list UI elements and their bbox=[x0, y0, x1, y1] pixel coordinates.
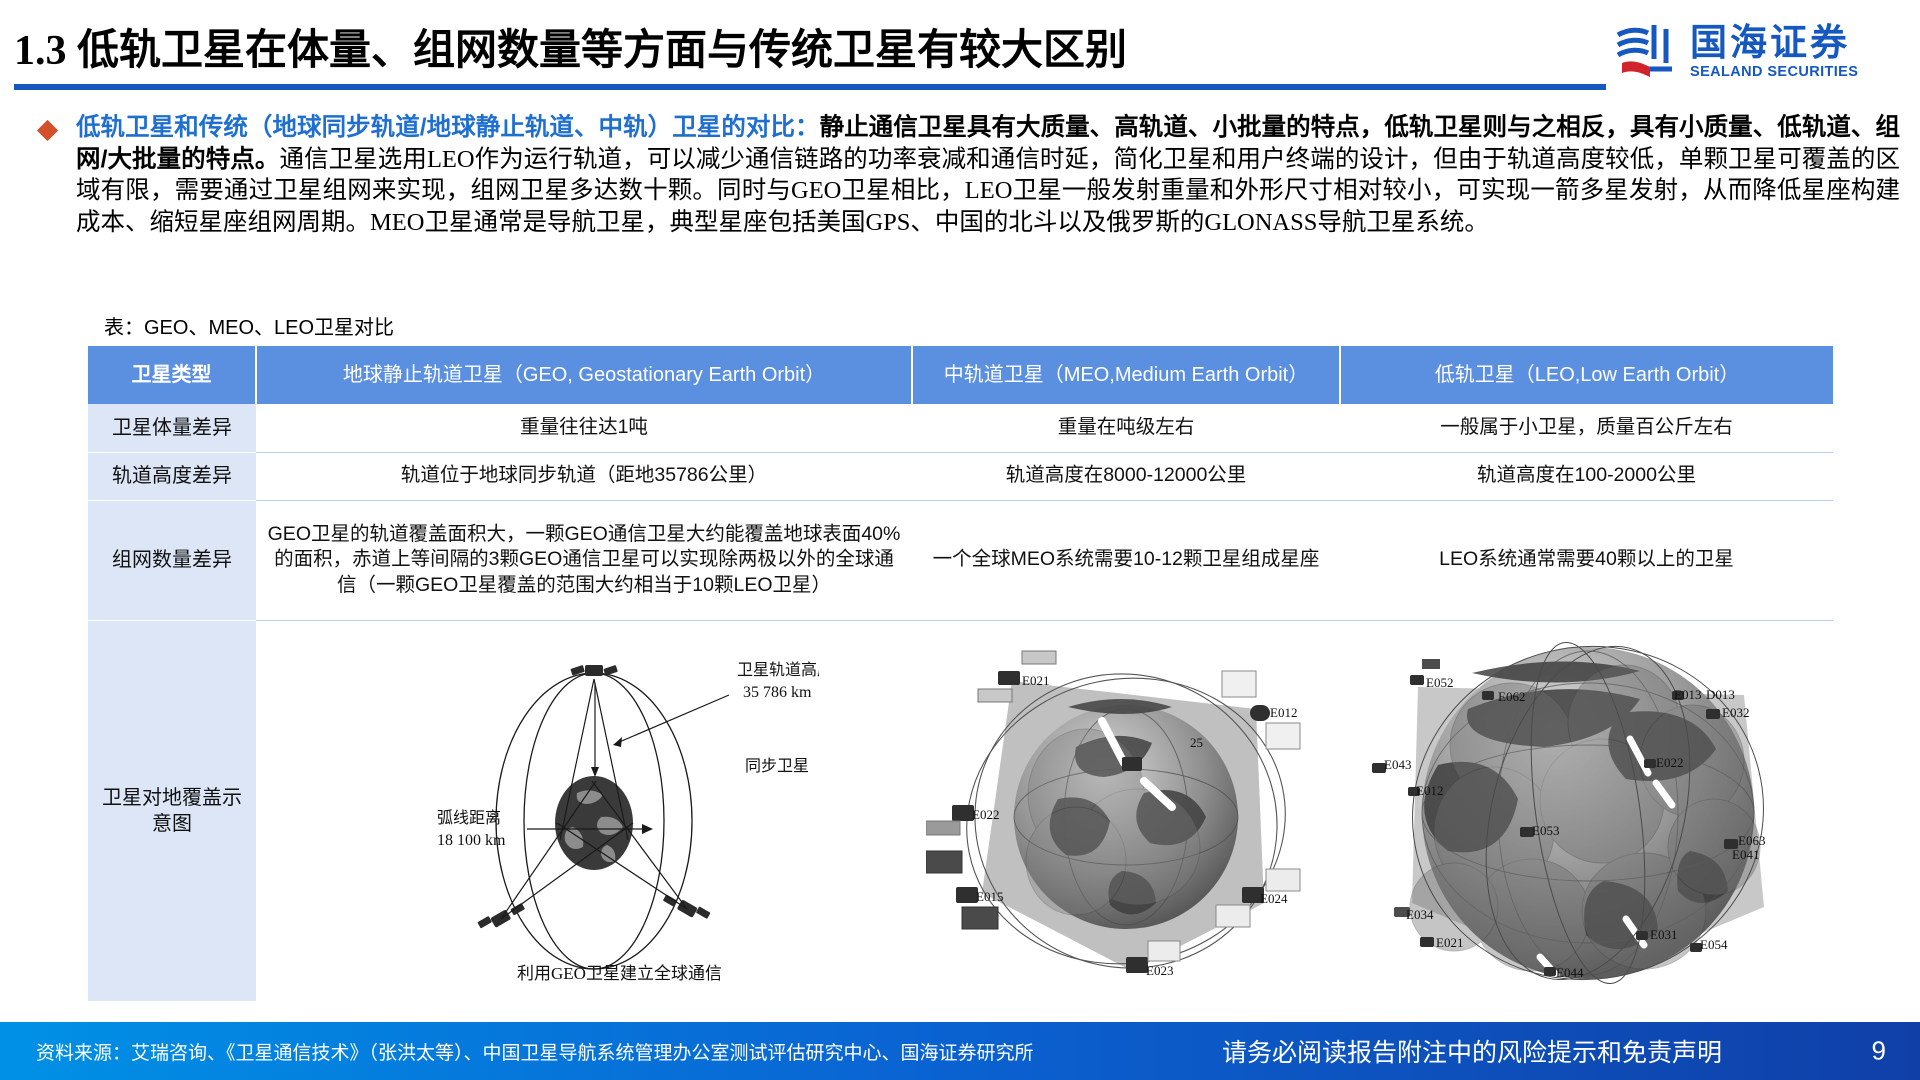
cell-leo-altitude: 轨道高度在100-2000公里 bbox=[1340, 452, 1833, 500]
satellite-marker: E043 bbox=[1372, 757, 1411, 773]
satellite-marker: E012 bbox=[1408, 783, 1443, 798]
svg-text:18 100 km: 18 100 km bbox=[437, 832, 506, 849]
cell-meo-constellation: 一个全球MEO系统需要10-12颗卫星组成星座 bbox=[912, 500, 1340, 620]
bullet-diamond-icon bbox=[37, 120, 58, 141]
svg-text:E053: E053 bbox=[1532, 823, 1559, 838]
svg-text:25: 25 bbox=[1190, 735, 1203, 750]
svg-text:卫星轨道高度: 卫星轨道高度 bbox=[737, 661, 819, 679]
cell-geo-figure: 卫星轨道高度 35 786 km 同步卫星 弧线距离 18 100 km 利用G… bbox=[256, 620, 912, 1001]
footer-source-text: 资料来源：艾瑞咨询、《卫星通信技术》（张洪太等）、中国卫星导航系统管理办公室测试… bbox=[0, 1038, 1034, 1065]
cell-meo-figure: E021 E012 E022 bbox=[912, 620, 1340, 1001]
svg-text:E013: E013 bbox=[1674, 687, 1701, 702]
svg-text:E044: E044 bbox=[1556, 965, 1584, 980]
paragraph-lead: 低轨卫星和传统（地球同步轨道/地球静止轨道、中轨）卫星的对比： bbox=[76, 114, 820, 141]
row-label-mass: 卫星体量差异 bbox=[88, 404, 256, 452]
satellite-marker: E041 bbox=[1732, 847, 1759, 862]
cell-meo-altitude: 轨道高度在8000-12000公里 bbox=[912, 452, 1340, 500]
cell-geo-mass: 重量往往达1吨 bbox=[256, 404, 912, 452]
leo-constellation-diagram: E052 E062 E013 D013 E032 E043 E012 E022 … bbox=[1372, 635, 1802, 987]
svg-text:E054: E054 bbox=[1700, 937, 1728, 952]
satellite-comparison-table: 卫星类型 地球静止轨道卫星（GEO, Geostationary Earth O… bbox=[88, 346, 1833, 1001]
table-header-row: 卫星类型 地球静止轨道卫星（GEO, Geostationary Earth O… bbox=[88, 346, 1833, 404]
table-header-type: 卫星类型 bbox=[88, 346, 256, 404]
table-header-geo: 地球静止轨道卫星（GEO, Geostationary Earth Orbit） bbox=[256, 346, 912, 404]
meo-constellation-diagram: E021 E012 E022 bbox=[926, 635, 1326, 987]
cell-meo-mass: 重量在吨级左右 bbox=[912, 404, 1340, 452]
svg-text:E012: E012 bbox=[1416, 783, 1443, 798]
satellite-marker: E013 bbox=[1672, 687, 1701, 702]
cell-leo-constellation: LEO系统通常需要40颗以上的卫星 bbox=[1340, 500, 1833, 620]
cell-geo-constellation: GEO卫星的轨道覆盖面积大，一颗GEO通信卫星大约能覆盖地球表面40%的面积，赤… bbox=[256, 500, 912, 620]
table-row: 卫星对地覆盖示意图 bbox=[88, 620, 1833, 1001]
svg-text:弧线距离: 弧线距离 bbox=[437, 809, 501, 827]
svg-text:E015: E015 bbox=[976, 889, 1003, 904]
svg-text:同步卫星: 同步卫星 bbox=[745, 757, 809, 775]
svg-text:E021: E021 bbox=[1022, 673, 1049, 688]
cell-leo-mass: 一般属于小卫星，质量百公斤左右 bbox=[1340, 404, 1833, 452]
svg-text:E062: E062 bbox=[1498, 689, 1525, 704]
sealand-logo-icon bbox=[1614, 19, 1680, 85]
svg-text:E021: E021 bbox=[1436, 935, 1463, 950]
row-label-coverage-figure: 卫星对地覆盖示意图 bbox=[88, 620, 256, 1001]
satellite-marker bbox=[1122, 757, 1142, 771]
slide-header: 1.3 低轨卫星在体量、组网数量等方面与传统卫星有较大区别 bbox=[0, 0, 1920, 98]
svg-text:E034: E034 bbox=[1406, 907, 1434, 922]
svg-text:E031: E031 bbox=[1650, 927, 1677, 942]
slide-footer: 资料来源：艾瑞咨询、《卫星通信技术》（张洪太等）、中国卫星导航系统管理办公室测试… bbox=[0, 1022, 1920, 1080]
footer-disclaimer-text: 请务必阅读报告附注中的风险提示和免责声明 bbox=[1222, 1033, 1722, 1069]
satellite-marker: E034 bbox=[1394, 907, 1434, 922]
slide-root: 1.3 低轨卫星在体量、组网数量等方面与传统卫星有较大区别 bbox=[0, 0, 1920, 1080]
body-paragraph: 低轨卫星和传统（地球同步轨道/地球静止轨道、中轨）卫星的对比：静止通信卫星具有大… bbox=[76, 112, 1900, 238]
logo-chinese-name: 国海证券 bbox=[1690, 24, 1858, 62]
svg-text:E063: E063 bbox=[1738, 833, 1765, 848]
table-row: 轨道高度差异 轨道位于地球同步轨道（距地35786公里） 轨道高度在8000-1… bbox=[88, 452, 1833, 500]
svg-text:E043: E043 bbox=[1384, 757, 1411, 772]
svg-text:E024: E024 bbox=[1260, 891, 1288, 906]
page-title: 1.3 低轨卫星在体量、组网数量等方面与传统卫星有较大区别 bbox=[14, 16, 1127, 77]
satellite-marker: E021 bbox=[1420, 935, 1463, 950]
page-number: 9 bbox=[1872, 1036, 1886, 1067]
svg-text:E032: E032 bbox=[1722, 705, 1749, 720]
svg-text:35 786 km: 35 786 km bbox=[743, 684, 812, 701]
row-label-constellation: 组网数量差异 bbox=[88, 500, 256, 620]
logo-english-name: SEALAND SECURITIES bbox=[1690, 64, 1858, 80]
satellite-marker: D013 bbox=[1706, 687, 1735, 702]
title-underline-rule bbox=[14, 84, 1606, 90]
svg-text:D013: D013 bbox=[1706, 687, 1735, 702]
satellite-marker: E044 bbox=[1544, 965, 1584, 980]
table-row: 组网数量差异 GEO卫星的轨道覆盖面积大，一颗GEO通信卫星大约能覆盖地球表面4… bbox=[88, 500, 1833, 620]
svg-text:利用GEO卫星建立全球通信: 利用GEO卫星建立全球通信 bbox=[517, 964, 722, 983]
satellite-marker: E052 bbox=[1410, 659, 1453, 690]
paragraph-rest: 通信卫星选用LEO作为运行轨道，可以减少通信链路的功率衰减和通信时延，简化卫星和… bbox=[76, 146, 1900, 236]
svg-text:E022: E022 bbox=[1656, 755, 1683, 770]
table-row: 卫星体量差异 重量往往达1吨 重量在吨级左右 一般属于小卫星，质量百公斤左右 bbox=[88, 404, 1833, 452]
svg-text:E052: E052 bbox=[1426, 675, 1453, 690]
table-header-meo: 中轨道卫星（MEO,Medium Earth Orbit） bbox=[912, 346, 1340, 404]
logo-text-block: 国海证券 SEALAND SECURITIES bbox=[1690, 24, 1858, 80]
table-caption: 表：GEO、MEO、LEO卫星对比 bbox=[104, 311, 394, 340]
cell-geo-altitude: 轨道位于地球同步轨道（距地35786公里） bbox=[256, 452, 912, 500]
body-paragraph-block: 低轨卫星和传统（地球同步轨道/地球静止轨道、中轨）卫星的对比：静止通信卫星具有大… bbox=[40, 112, 1900, 238]
svg-text:E023: E023 bbox=[1146, 963, 1173, 978]
geo-coverage-diagram: 卫星轨道高度 35 786 km 同步卫星 弧线距离 18 100 km 利用G… bbox=[349, 631, 819, 991]
company-logo: 国海证券 SEALAND SECURITIES bbox=[1614, 14, 1904, 90]
cell-leo-figure: E052 E062 E013 D013 E032 E043 E012 E022 … bbox=[1340, 620, 1833, 1001]
svg-text:E022: E022 bbox=[972, 807, 999, 822]
svg-text:E041: E041 bbox=[1732, 847, 1759, 862]
svg-text:E012: E012 bbox=[1270, 705, 1297, 720]
row-label-altitude: 轨道高度差异 bbox=[88, 452, 256, 500]
satellite-marker: E022 bbox=[926, 805, 999, 835]
table-header-leo: 低轨卫星（LEO,Low Earth Orbit） bbox=[1340, 346, 1833, 404]
